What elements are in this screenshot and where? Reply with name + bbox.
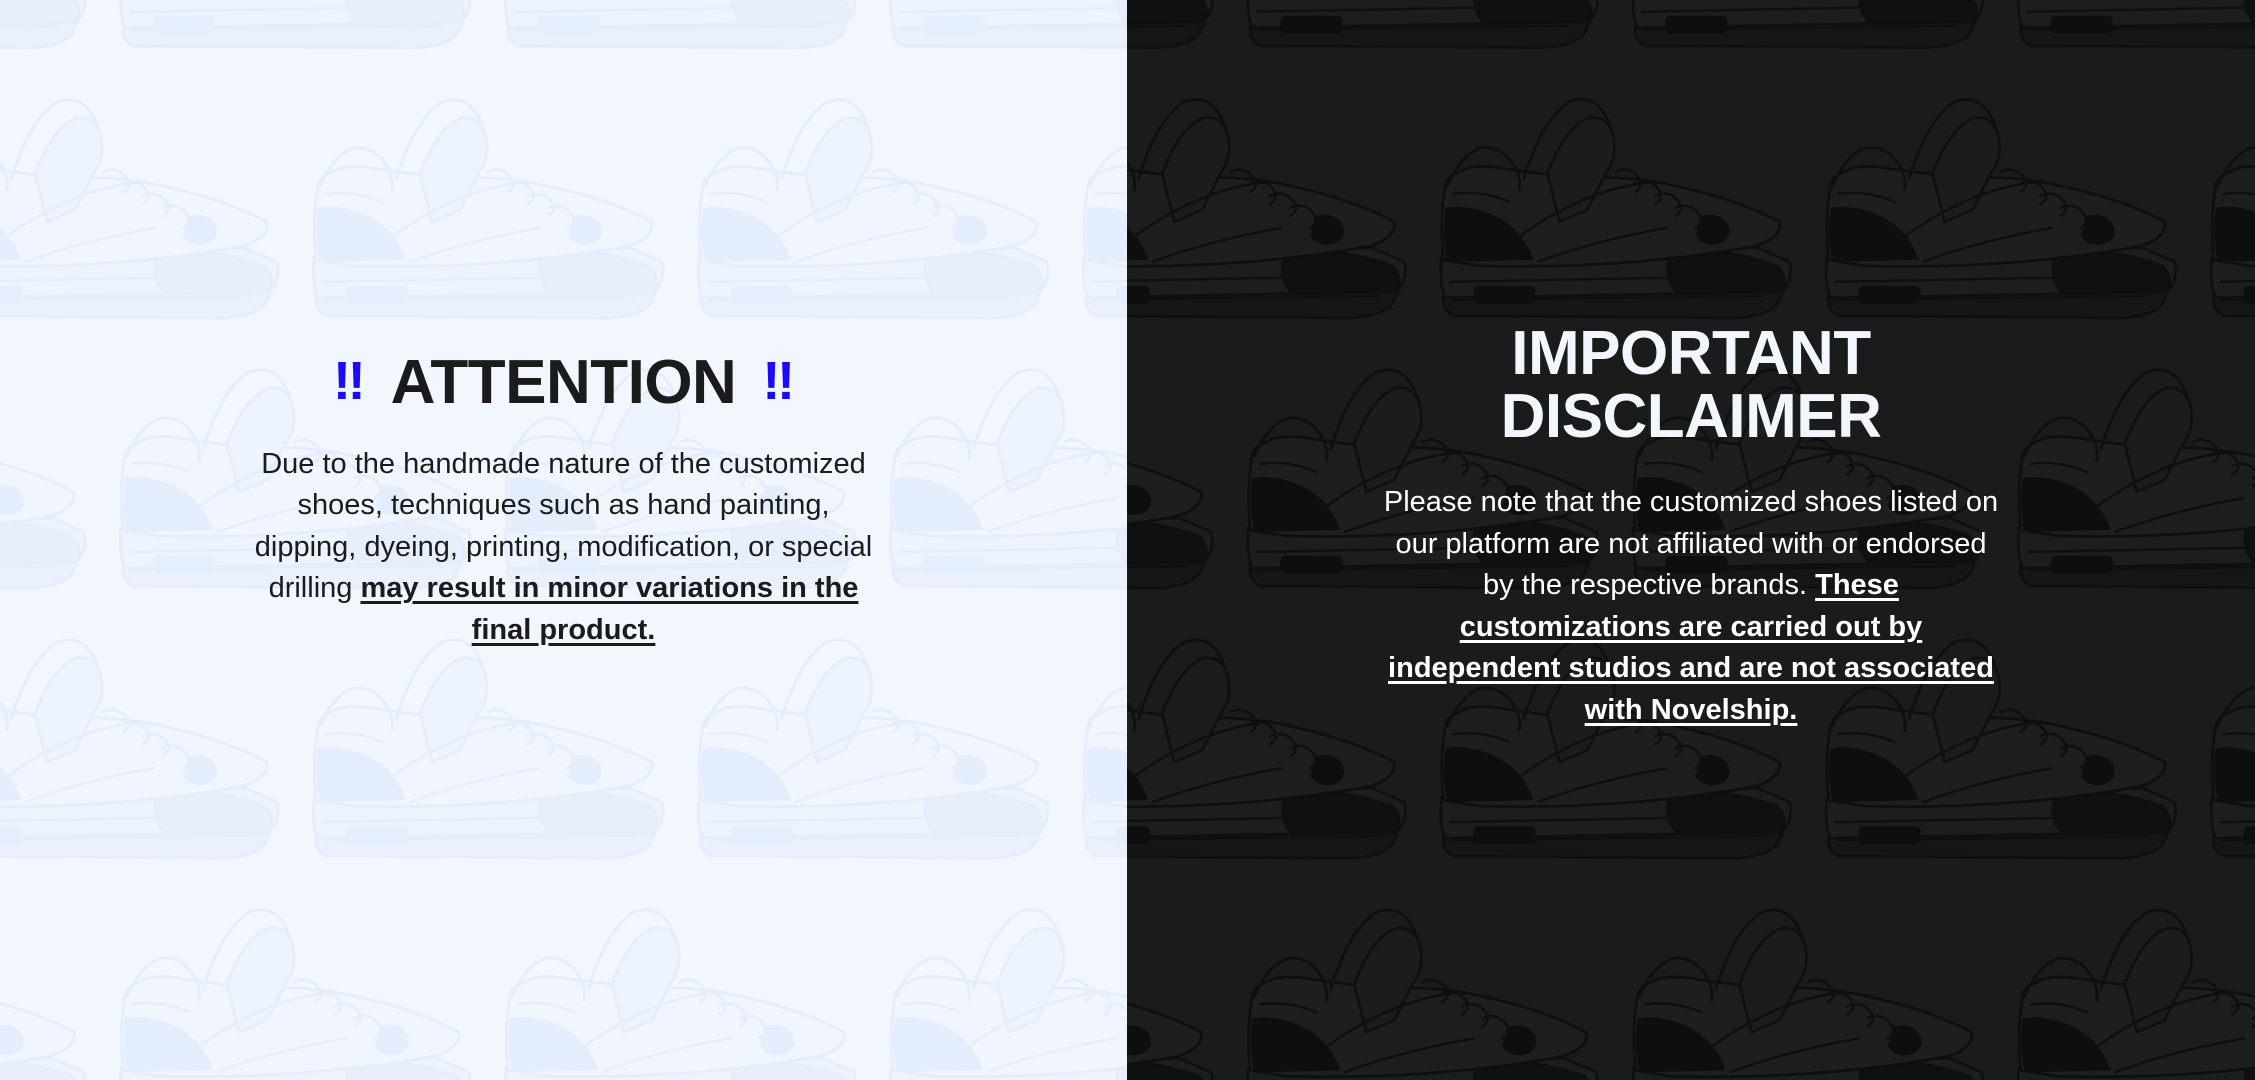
attention-body-emphasis: may result in minor variations in the fi… [360,572,858,645]
customs-disclaimer-banner: ‼ ATTENTION ‼ Due to the handmade nature… [0,0,2255,1080]
disclaimer-body-plain: Please note that the customized shoes li… [1384,486,1998,601]
disclaimer-headline-line1: IMPORTANT [1511,319,1870,388]
attention-body: Due to the handmade nature of the custom… [254,444,874,651]
disclaimer-panel: IMPORTANT DISCLAIMER Please note that th… [1127,0,2255,1080]
attention-panel: ‼ ATTENTION ‼ Due to the handmade nature… [0,0,1127,1080]
double-exclamation-right-icon: ‼ [762,354,794,408]
double-exclamation-left-icon: ‼ [333,354,365,408]
disclaimer-content: IMPORTANT DISCLAIMER Please note that th… [1127,0,2255,731]
attention-content: ‼ ATTENTION ‼ Due to the handmade nature… [0,0,1127,651]
disclaimer-body: Please note that the customized shoes li… [1379,482,2004,731]
disclaimer-headline-line2: DISCLAIMER [1501,382,1882,451]
attention-headline-text: ATTENTION [391,352,737,414]
attention-headline: ‼ ATTENTION ‼ [40,352,1087,414]
disclaimer-headline: IMPORTANT DISCLAIMER [1381,322,2001,448]
